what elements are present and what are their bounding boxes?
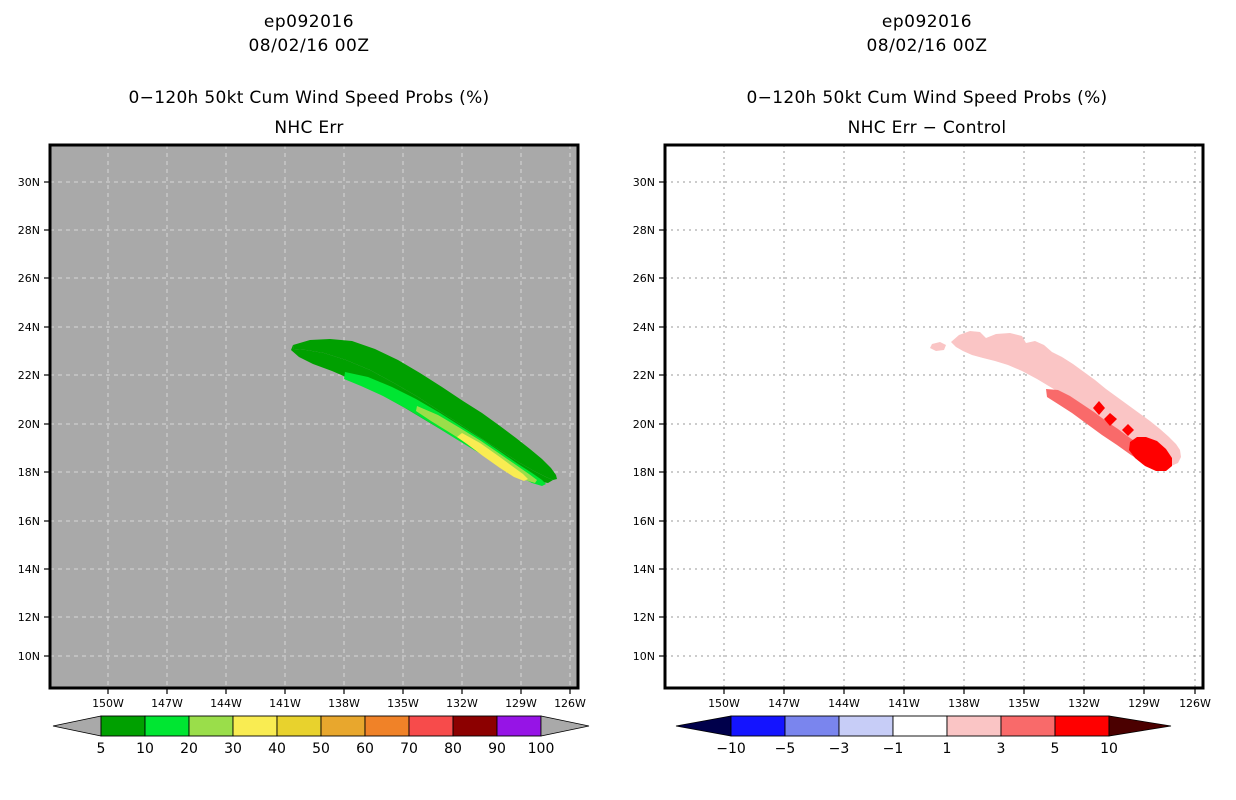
- right-cbar-label-2: −3: [829, 741, 850, 757]
- left-swatch-50: [321, 716, 365, 736]
- left-xtick-6: 132W: [446, 697, 478, 710]
- right-xtick-3: 141W: [888, 697, 920, 710]
- left-xtick-0: 150W: [92, 697, 124, 710]
- right-cbar-label-5: 3: [997, 741, 1006, 757]
- left-swatch-20: [189, 716, 233, 736]
- left-swatch-40: [277, 716, 321, 736]
- right-xtick-2: 144W: [828, 697, 860, 710]
- right-xtick-0: 150W: [708, 697, 740, 710]
- right-colorbar-over-arrow: [1109, 716, 1171, 736]
- left-xtick-7: 129W: [505, 697, 537, 710]
- right-swatch-n10: [731, 716, 785, 736]
- left-colorbar-over-arrow: [541, 716, 589, 736]
- left-cbar-label-3: 30: [224, 741, 242, 757]
- left-xtick-1: 147W: [151, 697, 183, 710]
- right-cbar-label-6: 5: [1051, 741, 1060, 757]
- left-xtick-8: 126W: [554, 697, 586, 710]
- left-ytick-8: 14N: [18, 563, 40, 576]
- right-swatch-n3: [839, 716, 893, 736]
- left-plot[interactable]: 30N 28N 26N 24N 22N 20N 18N 16N 14N 12N …: [0, 0, 618, 710]
- left-ytick-2: 26N: [18, 272, 40, 285]
- right-ytick-10: 10N: [633, 650, 655, 663]
- left-xtick-5: 135W: [387, 697, 419, 710]
- right-swatch-n5: [785, 716, 839, 736]
- right-cbar-label-0: −10: [716, 741, 746, 757]
- right-cbar-label-3: −1: [883, 741, 904, 757]
- left-swatch-30: [233, 716, 277, 736]
- left-cbar-label-2: 20: [180, 741, 198, 757]
- left-plot-background: [50, 145, 578, 688]
- left-cbar-label-7: 70: [400, 741, 418, 757]
- left-swatch-10: [145, 716, 189, 736]
- right-xtick-7: 129W: [1128, 697, 1160, 710]
- left-cbar-label-9: 90: [488, 741, 506, 757]
- left-ytick-6: 18N: [18, 466, 40, 479]
- left-cbar-label-5: 50: [312, 741, 330, 757]
- right-x-axis: 150W 147W 144W 141W 138W 135W 132W 129W …: [708, 688, 1211, 710]
- right-ytick-7: 16N: [633, 515, 655, 528]
- right-xtick-6: 132W: [1068, 697, 1100, 710]
- right-cbar-label-1: −5: [775, 741, 796, 757]
- left-cbar-label-0: 5: [97, 741, 106, 757]
- left-colorbar-labels: 5 10 20 30 40 50 60 70 80 90 100: [97, 741, 555, 757]
- left-swatch-90: [497, 716, 541, 736]
- left-ytick-7: 16N: [18, 515, 40, 528]
- right-colorbar-swatches: [676, 716, 1171, 736]
- left-swatch-70: [409, 716, 453, 736]
- left-swatch-80: [453, 716, 497, 736]
- left-xtick-4: 138W: [328, 697, 360, 710]
- right-ytick-8: 14N: [633, 563, 655, 576]
- left-cbar-label-1: 10: [136, 741, 154, 757]
- left-cbar-label-8: 80: [444, 741, 462, 757]
- right-ytick-0: 30N: [633, 176, 655, 189]
- right-colorbar-under-arrow: [676, 716, 731, 736]
- right-cbar-label-7: 10: [1100, 741, 1118, 757]
- right-cbar-label-4: 1: [943, 741, 952, 757]
- right-xtick-4: 138W: [948, 697, 980, 710]
- left-colorbar-under-arrow: [53, 716, 101, 736]
- right-swatch-p3: [1001, 716, 1055, 736]
- left-cbar-label-4: 40: [268, 741, 286, 757]
- left-ytick-4: 22N: [18, 369, 40, 382]
- left-xtick-2: 144W: [210, 697, 242, 710]
- panel-left: ep092016 08/02/16 00Z 0−120h 50kt Cum Wi…: [0, 0, 618, 800]
- left-ytick-3: 24N: [18, 321, 40, 334]
- right-ytick-5: 20N: [633, 418, 655, 431]
- right-y-axis: 30N 28N 26N 24N 22N 20N 18N 16N 14N 12N …: [633, 176, 665, 663]
- right-swatch-p1: [947, 716, 1001, 736]
- left-xtick-3: 141W: [269, 697, 301, 710]
- left-x-axis: 150W 147W 144W 141W 138W 135W 132W 129W …: [92, 688, 586, 710]
- right-xtick-5: 135W: [1008, 697, 1040, 710]
- right-ytick-6: 18N: [633, 466, 655, 479]
- right-swatch-n1: [893, 716, 947, 736]
- right-ytick-9: 12N: [633, 611, 655, 624]
- left-ytick-0: 30N: [18, 176, 40, 189]
- right-ytick-2: 26N: [633, 272, 655, 285]
- left-swatch-5: [101, 716, 145, 736]
- left-colorbar-swatches: [53, 716, 589, 736]
- right-ytick-4: 22N: [633, 369, 655, 382]
- left-ytick-9: 12N: [18, 611, 40, 624]
- right-swatch-p5: [1055, 716, 1109, 736]
- right-ytick-1: 28N: [633, 224, 655, 237]
- left-ytick-1: 28N: [18, 224, 40, 237]
- left-ytick-10: 10N: [18, 650, 40, 663]
- left-swatch-60: [365, 716, 409, 736]
- right-xtick-1: 147W: [768, 697, 800, 710]
- right-colorbar-labels: −10 −5 −3 −1 1 3 5 10: [716, 741, 1118, 757]
- left-cbar-label-10: 100: [528, 741, 555, 757]
- left-y-axis: 30N 28N 26N 24N 22N 20N 18N 16N 14N 12N …: [18, 176, 50, 663]
- left-ytick-5: 20N: [18, 418, 40, 431]
- panel-right: ep092016 08/02/16 00Z 0−120h 50kt Cum Wi…: [618, 0, 1236, 800]
- right-xtick-8: 126W: [1179, 697, 1211, 710]
- right-ytick-3: 24N: [633, 321, 655, 334]
- right-plot[interactable]: 30N 28N 26N 24N 22N 20N 18N 16N 14N 12N …: [618, 0, 1236, 710]
- left-cbar-label-6: 60: [356, 741, 374, 757]
